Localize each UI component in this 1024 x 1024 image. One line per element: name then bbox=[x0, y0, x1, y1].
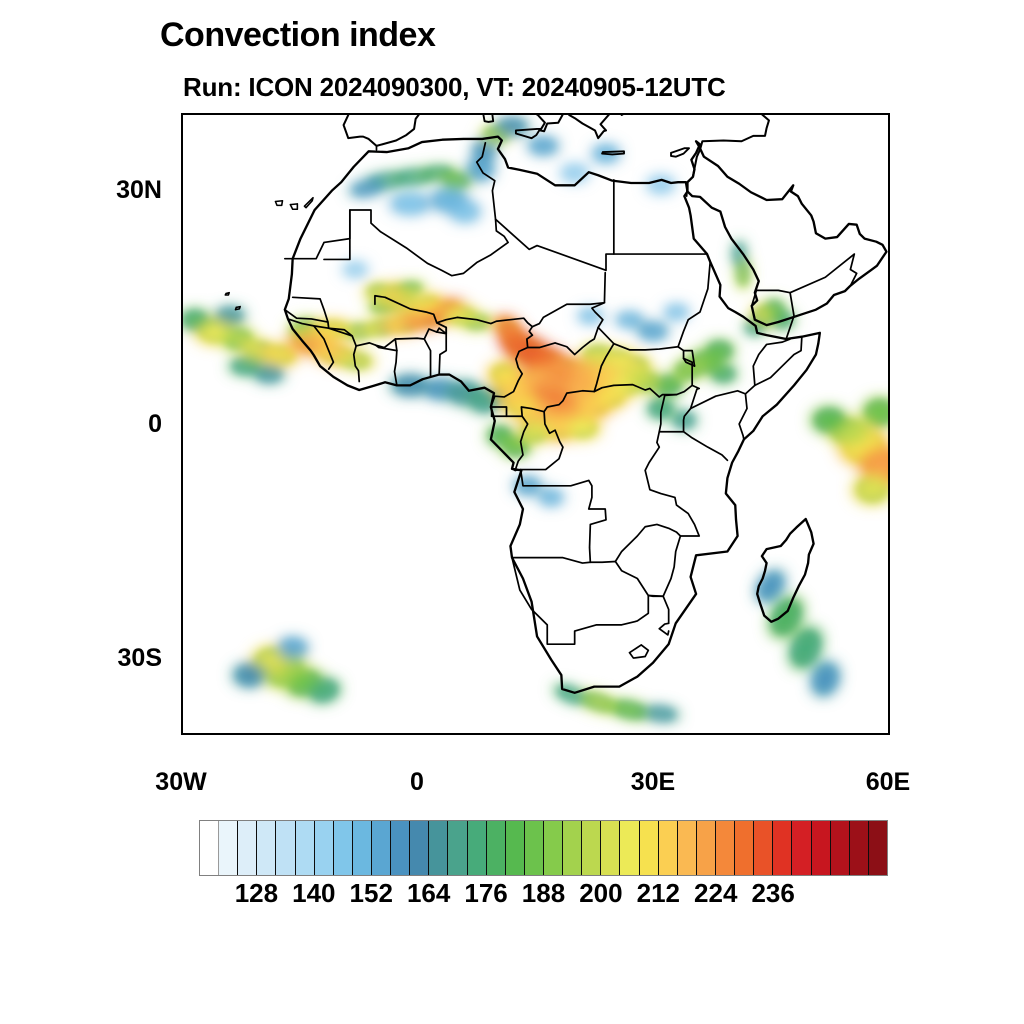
y-axis-label-30n: 30N bbox=[42, 176, 162, 205]
country-border-31 bbox=[659, 432, 727, 461]
colorbar-cell-24 bbox=[659, 821, 678, 875]
y-tick-10s bbox=[181, 503, 182, 505]
convection-cell bbox=[617, 313, 641, 326]
country-border-37 bbox=[678, 262, 710, 347]
convection-cell bbox=[582, 345, 614, 364]
colorbar-cell-22 bbox=[620, 821, 639, 875]
convection-cell bbox=[393, 195, 428, 214]
x-tick-30w bbox=[183, 733, 185, 735]
island-canary-1 bbox=[275, 201, 282, 206]
country-border-33 bbox=[691, 391, 747, 440]
country-border-42 bbox=[687, 182, 688, 196]
x-tick-10e bbox=[498, 733, 500, 735]
x-tick-0 bbox=[419, 733, 421, 735]
x-tick-20w bbox=[261, 733, 263, 735]
colorbar-cell-23 bbox=[640, 821, 659, 875]
convection-cell bbox=[655, 376, 682, 395]
colorbar-label-236: 236 bbox=[723, 878, 823, 909]
x-tick-40e bbox=[734, 733, 736, 735]
colorbar-cell-19 bbox=[563, 821, 582, 875]
x-tick-50e bbox=[813, 733, 815, 735]
colorbar-cell-2 bbox=[238, 821, 257, 875]
country-border-6 bbox=[395, 339, 397, 385]
colorbar bbox=[199, 820, 888, 876]
convection-cell bbox=[813, 408, 845, 432]
country-border-28 bbox=[659, 623, 668, 635]
y-axis-label-30s: 30S bbox=[42, 644, 162, 673]
country-border-1 bbox=[324, 210, 350, 259]
x-axis-label-60e: 60E bbox=[808, 768, 968, 797]
colorbar-cell-8 bbox=[353, 821, 372, 875]
island-canary-2 bbox=[304, 198, 313, 208]
colorbar-cell-10 bbox=[391, 821, 410, 875]
country-border-29 bbox=[630, 645, 649, 658]
coastline-arabia bbox=[687, 141, 886, 325]
country-border-2 bbox=[496, 180, 614, 270]
country-border-14 bbox=[439, 334, 446, 375]
x-axis-label-0: 0 bbox=[337, 768, 497, 797]
colorbar-cell-27 bbox=[716, 821, 735, 875]
convection-cell bbox=[566, 417, 598, 438]
country-border-35 bbox=[753, 339, 790, 385]
convection-cell bbox=[279, 639, 306, 658]
convection-cell bbox=[808, 660, 842, 698]
colorbar-cell-17 bbox=[525, 821, 544, 875]
x-tick-10w bbox=[340, 733, 342, 735]
map-canvas bbox=[183, 115, 888, 733]
colorbar-tick-labels: 128140152164176188200212224236 bbox=[0, 878, 1024, 918]
y-tick-20s bbox=[181, 581, 182, 583]
coastline-island-2 bbox=[671, 148, 689, 156]
y-tick-30n bbox=[181, 191, 182, 193]
colorbar-cell-0 bbox=[200, 821, 219, 875]
convection-cell bbox=[489, 363, 519, 384]
country-border-40 bbox=[752, 254, 857, 306]
colorbar-cell-28 bbox=[735, 821, 754, 875]
colorbar-cell-31 bbox=[792, 821, 811, 875]
colorbar-cell-35 bbox=[869, 821, 887, 875]
y-tick-30s bbox=[181, 659, 182, 661]
y-tick-10n bbox=[181, 347, 182, 349]
colorbar-cell-33 bbox=[831, 821, 850, 875]
colorbar-cell-5 bbox=[296, 821, 315, 875]
country-border-25 bbox=[512, 558, 590, 563]
convection-cell bbox=[706, 341, 733, 360]
colorbar-cell-26 bbox=[697, 821, 716, 875]
colorbar-cell-13 bbox=[448, 821, 467, 875]
convection-cell bbox=[452, 202, 479, 221]
colorbar-cell-18 bbox=[544, 821, 563, 875]
colorbar-cell-11 bbox=[410, 821, 429, 875]
x-tick-30e bbox=[655, 733, 657, 735]
island-canary-0 bbox=[290, 204, 297, 209]
country-border-26 bbox=[615, 524, 680, 596]
coastline-levant bbox=[622, 115, 769, 182]
chart-subtitle: Run: ICON 2024090300, VT: 20240905-12UTC bbox=[183, 72, 726, 103]
colorbar-cell-25 bbox=[678, 821, 697, 875]
country-border-12 bbox=[424, 339, 430, 376]
x-tick-20e bbox=[577, 733, 579, 735]
colorbar-cell-7 bbox=[334, 821, 353, 875]
convection-cell bbox=[540, 490, 561, 505]
colorbar-cell-21 bbox=[601, 821, 620, 875]
page-title: Convection index bbox=[160, 16, 435, 55]
convection-cell bbox=[711, 366, 735, 382]
island-capeverde-1 bbox=[225, 293, 229, 295]
colorbar-cell-3 bbox=[257, 821, 276, 875]
coastline-island-0 bbox=[483, 115, 495, 122]
colorbar-cell-20 bbox=[582, 821, 601, 875]
convection-cell bbox=[640, 323, 667, 339]
x-axis-label-30w: 30W bbox=[101, 768, 261, 797]
convection-index-chart: Convection index Run: ICON 2024090300, V… bbox=[0, 0, 1024, 1024]
colorbar-cell-9 bbox=[372, 821, 391, 875]
colorbar-cell-4 bbox=[276, 821, 295, 875]
y-tick-20n bbox=[181, 269, 182, 271]
coastline-balkans bbox=[569, 115, 645, 138]
colorbar-cell-32 bbox=[812, 821, 831, 875]
colorbar-cell-30 bbox=[773, 821, 792, 875]
convection-cell bbox=[217, 308, 244, 324]
y-axis-label-0: 0 bbox=[42, 410, 162, 439]
colorbar-cell-6 bbox=[315, 821, 334, 875]
convection-cell bbox=[256, 366, 283, 382]
colorbar-cell-15 bbox=[487, 821, 506, 875]
convection-cell bbox=[497, 119, 527, 135]
colorbar-cell-16 bbox=[506, 821, 525, 875]
y-tick-0 bbox=[181, 425, 182, 427]
colorbar-cell-34 bbox=[850, 821, 869, 875]
colorbar-cell-29 bbox=[754, 821, 773, 875]
convection-cell bbox=[666, 305, 687, 318]
convection-cell bbox=[235, 664, 265, 685]
convection-cell bbox=[345, 263, 366, 276]
map-plot-area bbox=[181, 113, 890, 735]
convection-cell bbox=[444, 174, 471, 187]
country-border-27 bbox=[648, 595, 668, 623]
x-axis-label-30e: 30E bbox=[573, 768, 733, 797]
colorbar-cell-12 bbox=[429, 821, 448, 875]
colorbar-cell-1 bbox=[219, 821, 238, 875]
colorbar-cell-14 bbox=[468, 821, 487, 875]
convection-cell bbox=[530, 138, 557, 154]
